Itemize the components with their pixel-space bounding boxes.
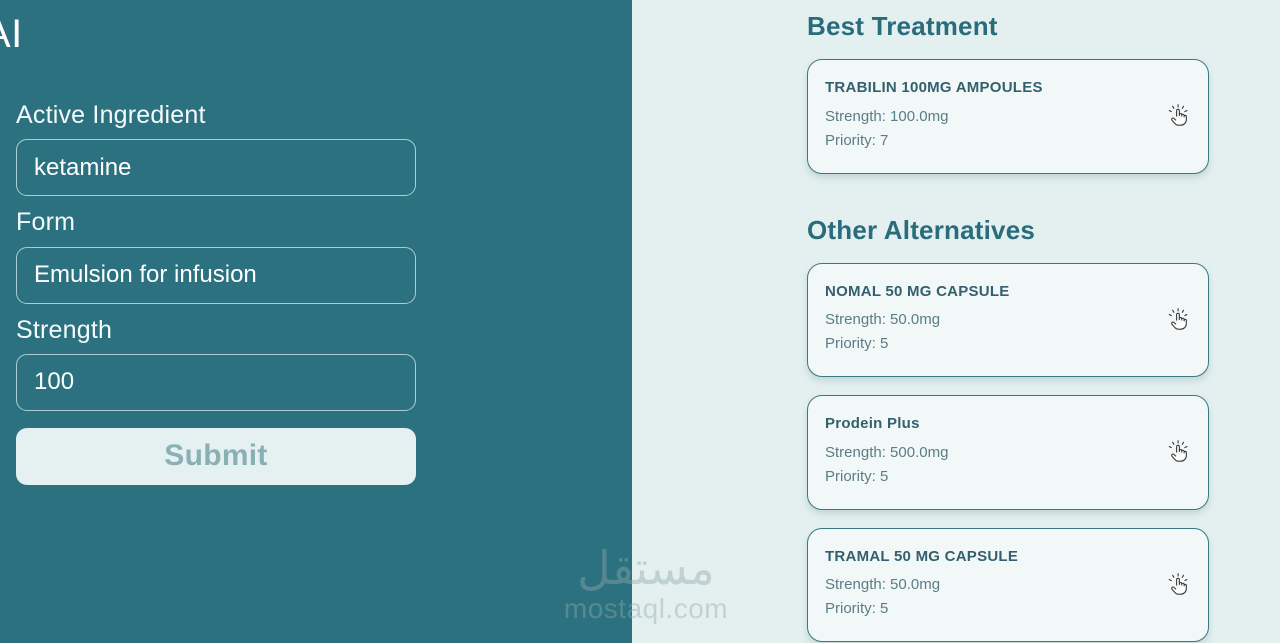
treatment-card-priority: Priority: 7 [825,129,1186,153]
click-hand-icon [1168,440,1190,464]
page-title: AI [0,14,23,54]
treatment-card-title: TRAMAL 50 MG CAPSULE [825,549,1186,566]
form-input[interactable] [16,247,416,304]
treatment-card[interactable]: NOMAL 50 MG CAPSULE Strength: 50.0mg Pri… [807,263,1209,378]
treatment-card[interactable]: TRABILIN 100MG AMPOULES Strength: 100.0m… [807,59,1209,174]
field-form: Form [16,207,416,303]
field-strength: Strength [16,315,416,411]
active-ingredient-input[interactable] [16,139,416,196]
treatment-card-strength: Strength: 50.0mg [825,308,1186,332]
treatment-card-priority: Priority: 5 [825,597,1186,621]
alternatives-card-list: NOMAL 50 MG CAPSULE Strength: 50.0mg Pri… [807,263,1209,643]
submit-button[interactable]: Submit [16,428,416,485]
results-list: Best Treatment TRABILIN 100MG AMPOULES S… [807,0,1209,643]
treatment-card-priority: Priority: 5 [825,465,1186,489]
treatment-card-strength: Strength: 500.0mg [825,441,1186,465]
best-treatment-heading: Best Treatment [807,13,1209,39]
label-strength: Strength [16,315,416,346]
treatment-card-title: Prodein Plus [825,416,1186,433]
app-root: AI Active Ingredient Form Strength Submi… [0,0,1280,643]
click-hand-icon [1168,308,1190,332]
treatment-card-strength: Strength: 100.0mg [825,105,1186,129]
click-hand-icon [1168,104,1190,128]
strength-input[interactable] [16,354,416,411]
field-active-ingredient: Active Ingredient [16,100,416,196]
click-hand-icon [1168,573,1190,597]
treatment-card-strength: Strength: 50.0mg [825,573,1186,597]
treatment-card[interactable]: TRAMAL 50 MG CAPSULE Strength: 50.0mg Pr… [807,528,1209,643]
input-panel: AI Active Ingredient Form Strength Submi… [0,0,632,643]
best-treatment-card-list: TRABILIN 100MG AMPOULES Strength: 100.0m… [807,59,1209,174]
treatment-card[interactable]: Prodein Plus Strength: 500.0mg Priority:… [807,395,1209,510]
treatment-form: Active Ingredient Form Strength Submit [16,100,416,485]
other-alternatives-heading: Other Alternatives [807,217,1209,243]
label-form: Form [16,207,416,238]
treatment-card-title: TRABILIN 100MG AMPOULES [825,80,1186,97]
label-active-ingredient: Active Ingredient [16,100,416,131]
results-panel: Best Treatment TRABILIN 100MG AMPOULES S… [632,0,1280,643]
treatment-card-title: NOMAL 50 MG CAPSULE [825,284,1186,301]
treatment-card-priority: Priority: 5 [825,332,1186,356]
